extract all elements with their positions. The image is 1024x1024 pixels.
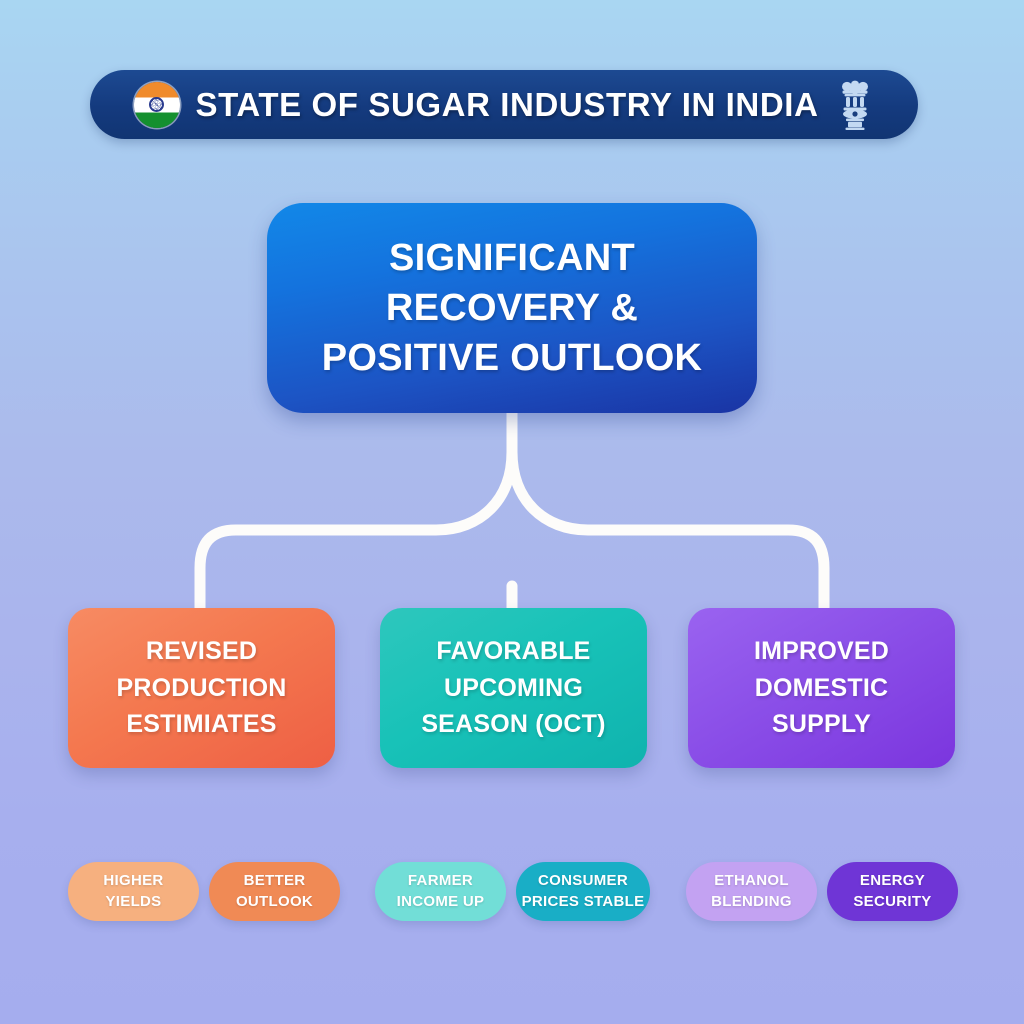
branch-node-label: FAVORABLE UPCOMING SEASON (OCT) — [411, 633, 615, 743]
chip-energy-security[interactable]: ENERGY SECURITY — [827, 862, 958, 921]
branch-node-label: IMPROVED DOMESTIC SUPPLY — [744, 633, 899, 743]
chip-consumer-prices-stable[interactable]: CONSUMER PRICES STABLE — [516, 862, 650, 921]
main-node-label: SIGNIFICANT RECOVERY & POSITIVE OUTLOOK — [304, 233, 721, 383]
chip-label: BETTER OUTLOOK — [236, 871, 313, 912]
main-node[interactable]: SIGNIFICANT RECOVERY & POSITIVE OUTLOOK — [267, 203, 757, 413]
chip-farmer-income-up[interactable]: FARMER INCOME UP — [375, 862, 506, 921]
branch-node-label: REVISED PRODUCTION ESTIMIATES — [106, 633, 296, 743]
branch-node-improved-domestic-supply[interactable]: IMPROVED DOMESTIC SUPPLY — [688, 608, 955, 768]
connector-left-branch — [200, 413, 512, 610]
connector-right-branch — [512, 413, 824, 610]
ashoka-pillar-emblem-icon — [835, 77, 875, 133]
header-bar: STATE OF SUGAR INDUSTRY IN INDIA — [90, 70, 918, 139]
chip-better-outlook[interactable]: BETTER OUTLOOK — [209, 862, 340, 921]
chip-higher-yields[interactable]: HIGHER YIELDS — [68, 862, 199, 921]
page-title: STATE OF SUGAR INDUSTRY IN INDIA — [196, 86, 819, 124]
branch-node-favorable-upcoming-season[interactable]: FAVORABLE UPCOMING SEASON (OCT) — [380, 608, 647, 768]
chip-label: ETHANOL BLENDING — [711, 871, 792, 912]
chip-label: HIGHER YIELDS — [103, 871, 163, 912]
chip-label: FARMER INCOME UP — [397, 871, 485, 912]
chip-ethanol-blending[interactable]: ETHANOL BLENDING — [686, 862, 817, 921]
chip-label: ENERGY SECURITY — [853, 871, 931, 912]
ashoka-chakra-icon — [149, 97, 164, 112]
infographic-canvas: STATE OF SUGAR INDUSTRY IN INDIA — [0, 0, 1024, 1024]
branch-node-revised-production-estimates[interactable]: REVISED PRODUCTION ESTIMIATES — [68, 608, 335, 768]
india-flag-roundel-icon — [134, 82, 180, 128]
chip-label: CONSUMER PRICES STABLE — [522, 871, 645, 912]
